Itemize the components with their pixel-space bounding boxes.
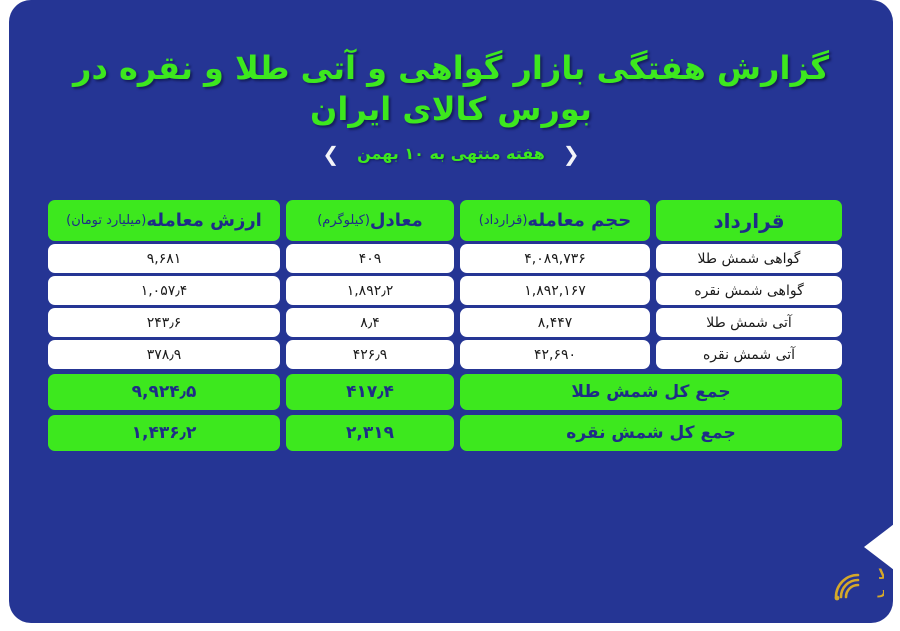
column-header-equivalent-unit: (کیلوگرم): [317, 213, 370, 228]
cell-contract-name: گواهی شمش طلا: [656, 244, 842, 273]
logo-line2: خبر: [877, 580, 884, 598]
column-header-equivalent-label: معادل: [370, 210, 423, 231]
table-row: گواهی شمش طلا ۴,۰۸۹,۷۳۶ ۴۰۹ ۹,۶۸۱: [60, 244, 842, 273]
summary-row-gold: جمع کل شمش طلا ۴۱۷٫۴ ۹,۹۲۴٫۵: [60, 374, 842, 410]
cell-value: ۱,۰۵۷٫۴: [48, 276, 280, 305]
subtitle-row: ❮ هفته منتهی به ۱۰ بهمن ❯: [9, 144, 893, 164]
page-title: گزارش هفتگی بازار گواهی و آتی طلا و نقره…: [9, 48, 893, 130]
cell-contract-name: گواهی شمش نقره: [656, 276, 842, 305]
data-table: قرارداد حجم معامله (قرارداد) معادل(کیلوگ…: [60, 200, 842, 454]
table-header-row: قرارداد حجم معامله (قرارداد) معادل(کیلوگ…: [60, 200, 842, 241]
cell-value: ۲۴۳٫۶: [48, 308, 280, 337]
table-row: آتی شمش طلا ۸,۴۴۷ ۸٫۴ ۲۴۳٫۶: [60, 308, 842, 337]
cell-volume: ۸,۴۴۷: [460, 308, 650, 337]
summary-equivalent-silver: ۲,۳۱۹: [286, 415, 454, 451]
cell-equivalent: ۱,۸۹۲٫۲: [286, 276, 454, 305]
summary-value-gold: ۹,۹۲۴٫۵: [48, 374, 280, 410]
poster-panel: گزارش هفتگی بازار گواهی و آتی طلا و نقره…: [9, 0, 893, 623]
cell-equivalent: ۸٫۴: [286, 308, 454, 337]
column-header-value-label: ارزش معامله: [146, 210, 261, 231]
column-header-contract: قرارداد: [656, 200, 842, 241]
table-row: گواهی شمش نقره ۱,۸۹۲,۱۶۷ ۱,۸۹۲٫۲ ۱,۰۵۷٫۴: [60, 276, 842, 305]
cell-equivalent: ۴۲۶٫۹: [286, 340, 454, 369]
table-row: آتی شمش نقره ۴۲,۶۹۰ ۴۲۶٫۹ ۳۷۸٫۹: [60, 340, 842, 369]
cell-equivalent: ۴۰۹: [286, 244, 454, 273]
cell-volume: ۴,۰۸۹,۷۳۶: [460, 244, 650, 273]
kalakhabar-logo: کالا خبر: [826, 557, 884, 605]
chevron-right-icon: ❮: [563, 144, 580, 164]
chevron-left-icon: ❯: [322, 144, 339, 164]
cell-contract-name: آتی شمش نقره: [656, 340, 842, 369]
column-header-value-unit: (میلیارد تومان): [66, 213, 146, 228]
cell-value: ۹,۶۸۱: [48, 244, 280, 273]
cell-volume: ۱,۸۹۲,۱۶۷: [460, 276, 650, 305]
subtitle: هفته منتهی به ۱۰ بهمن: [357, 144, 545, 163]
summary-label-gold: جمع کل شمش طلا: [460, 374, 842, 410]
column-header-volume-label: حجم معامله: [527, 210, 631, 231]
logo-icon: کالا خبر: [826, 557, 884, 605]
column-header-value: ارزش معامله(میلیارد تومان): [48, 200, 280, 241]
cell-contract-name: آتی شمش طلا: [656, 308, 842, 337]
column-header-contract-label: قرارداد: [713, 209, 784, 233]
summary-equivalent-gold: ۴۱۷٫۴: [286, 374, 454, 410]
title-block: گزارش هفتگی بازار گواهی و آتی طلا و نقره…: [9, 48, 893, 164]
column-header-volume-unit: (قرارداد): [479, 213, 528, 228]
infographic-poster: گزارش هفتگی بازار گواهی و آتی طلا و نقره…: [0, 0, 900, 631]
summary-value-silver: ۱,۴۳۶٫۲: [48, 415, 280, 451]
cell-volume: ۴۲,۶۹۰: [460, 340, 650, 369]
summary-label-silver: جمع کل شمش نقره: [460, 415, 842, 451]
cell-value: ۳۷۸٫۹: [48, 340, 280, 369]
summary-row-silver: جمع کل شمش نقره ۲,۳۱۹ ۱,۴۳۶٫۲: [60, 415, 842, 451]
column-header-volume: حجم معامله (قرارداد): [460, 200, 650, 241]
column-header-equivalent: معادل(کیلوگرم): [286, 200, 454, 241]
